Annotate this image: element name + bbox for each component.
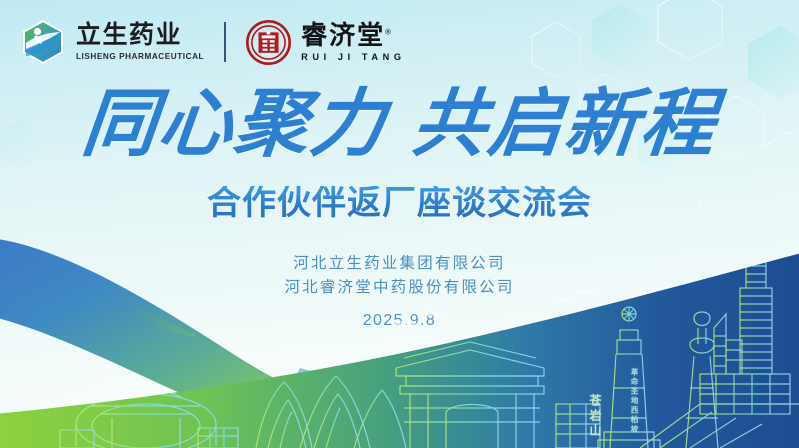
ruijitang-brand-text: 睿济堂® RUI JI TANG [301, 22, 406, 62]
headline-part-1: 同心聚力 [78, 84, 391, 166]
ruijitang-cn-label: 睿济堂 [301, 20, 385, 50]
ruijitang-en-name: RUI JI TANG [301, 52, 406, 62]
mountain-label: 苍岩山 [587, 394, 604, 439]
page-title: 同心聚力共启新程 [0, 88, 799, 162]
page-subtitle: 合作伙伴返厂座谈交流会 [0, 186, 799, 220]
logo-bar: 立生药业 LISHENG PHARMACEUTICAL 睿济堂® RUI JI … [20, 14, 406, 70]
ruijitang-cn-name: 睿济堂® [301, 22, 406, 48]
lisheng-hexagon-mark [20, 19, 66, 65]
monument-label: 革命圣地西柏坡 [629, 368, 640, 435]
event-banner: 立生药业 LISHENG PHARMACEUTICAL 睿济堂® RUI JI … [0, 0, 799, 448]
lisheng-en-name: LISHENG PHARMACEUTICAL [76, 52, 204, 61]
headline-part-2: 共启新程 [408, 84, 721, 166]
ruijitang-red-seal [246, 20, 291, 65]
lisheng-brand-text: 立生药业 LISHENG PHARMACEUTICAL [76, 23, 204, 61]
registered-mark: ® [385, 27, 393, 36]
city-skyline-illustration [0, 218, 799, 448]
lisheng-cn-name: 立生药业 [76, 23, 204, 48]
logo-divider [224, 22, 226, 62]
